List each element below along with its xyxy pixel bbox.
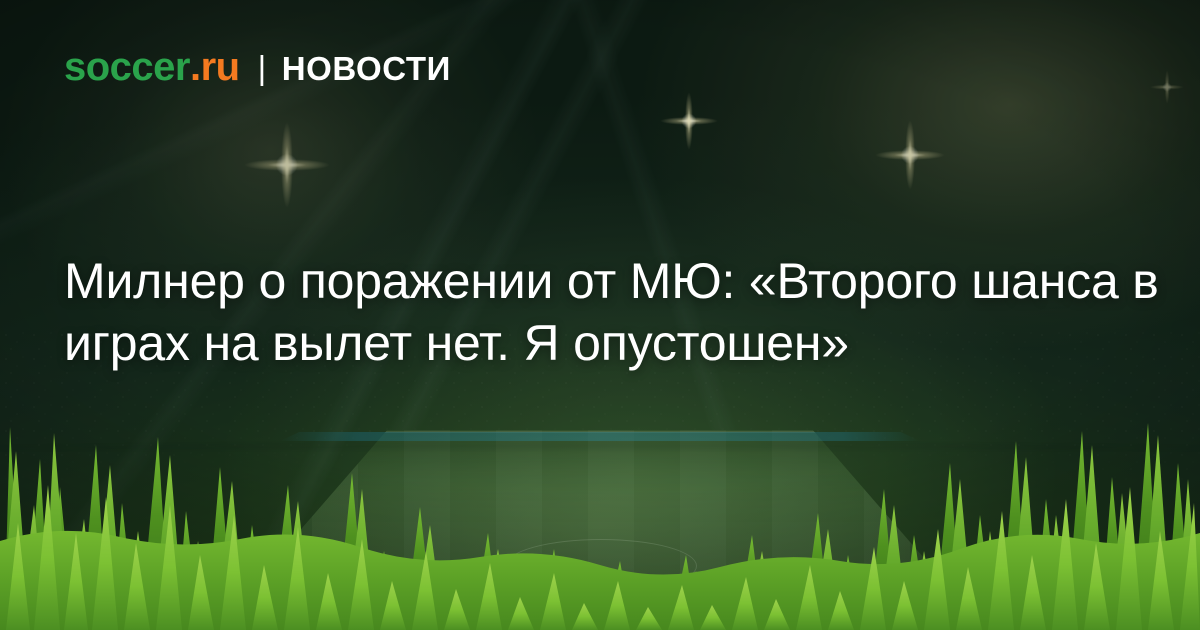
site-logo[interactable]: soccer.ru | НОВОСТИ	[64, 47, 451, 87]
logo-separator: |	[258, 51, 266, 84]
article-headline: Милнер о поражении от МЮ: «Второго шанса…	[64, 250, 1159, 374]
section-label-news: НОВОСТИ	[282, 52, 451, 85]
foreground-grass	[0, 415, 1200, 630]
share-card: soccer.ru | НОВОСТИ Милнер о поражении о…	[0, 0, 1200, 630]
logo-text-ru: .ru	[190, 47, 240, 87]
logo-text-soccer: soccer	[64, 47, 190, 87]
